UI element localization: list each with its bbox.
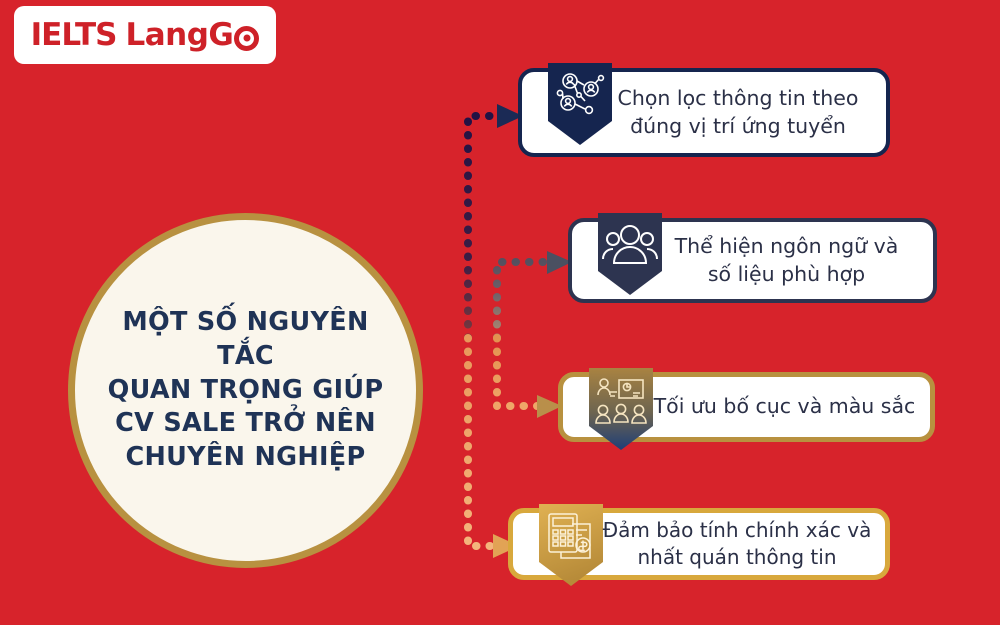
- principle-card-1[interactable]: Chọn lọc thông tin theo đúng vị trí ứng …: [518, 68, 890, 157]
- principle-card-1-text: Chọn lọc thông tin theo đúng vị trí ứng …: [522, 85, 886, 140]
- principle-card-4-text: Đảm bảo tính chính xác và nhất quán thôn…: [513, 517, 885, 571]
- target-o-icon: [234, 26, 259, 51]
- principle-card-2-text: Thể hiện ngôn ngữ và số liệu phù hợp: [572, 233, 933, 288]
- center-topic-circle: MỘT SỐ NGUYÊN TẮC QUAN TRỌNG GIÚP CV SAL…: [68, 213, 423, 568]
- principle-card-2[interactable]: Thể hiện ngôn ngữ và số liệu phù hợp: [568, 218, 937, 303]
- logo-text-langgo: LangG: [125, 17, 233, 53]
- logo-text: IELTS LangG: [31, 17, 260, 53]
- page-title: MỘT SỐ NGUYÊN TẮC QUAN TRỌNG GIÚP CV SAL…: [75, 306, 416, 474]
- principle-card-3-text: Tối ưu bố cục và màu sắc: [563, 393, 930, 420]
- brand-logo: IELTS LangG: [14, 6, 276, 64]
- logo-text-ielts: IELTS: [31, 17, 117, 53]
- infographic-canvas: IELTS LangG: [0, 0, 1000, 625]
- principle-card-4[interactable]: Đảm bảo tính chính xác và nhất quán thôn…: [508, 508, 890, 580]
- principle-card-3[interactable]: Tối ưu bố cục và màu sắc: [558, 372, 935, 442]
